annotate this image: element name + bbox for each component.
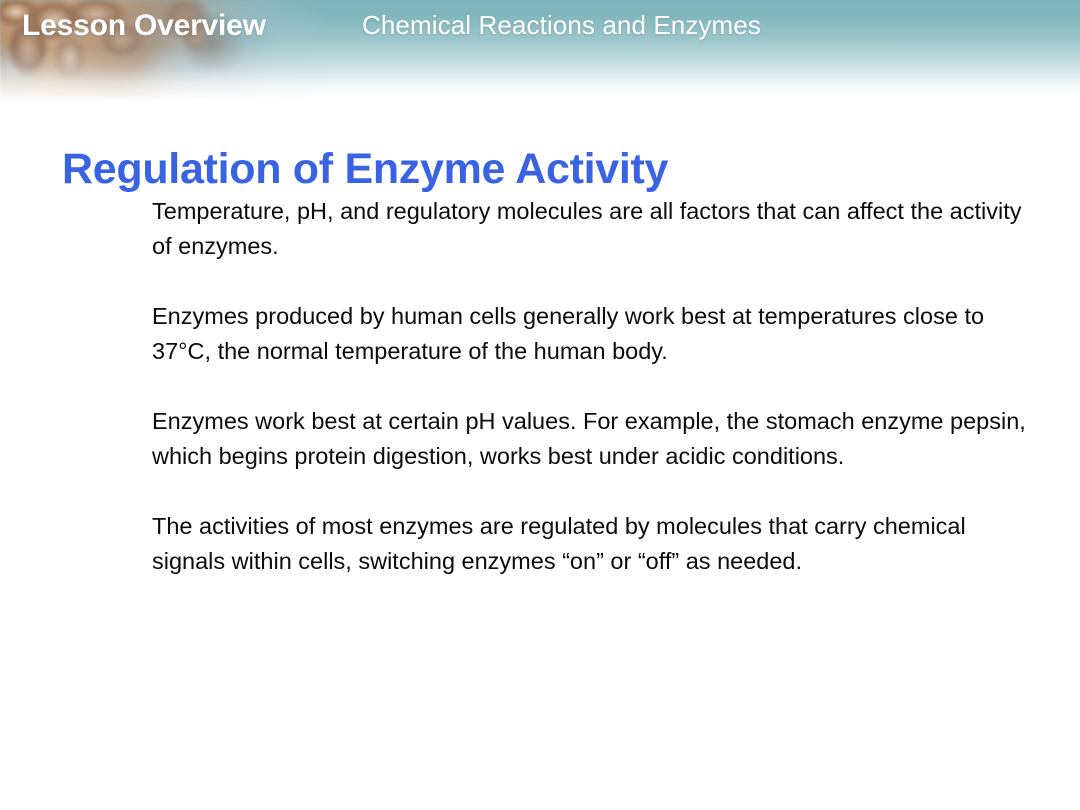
lesson-overview-label: Lesson Overview [22,9,266,43]
slide-body-content: Temperature, pH, and regulatory molecule… [152,194,1028,579]
body-paragraph: The activities of most enzymes are regul… [152,509,1028,579]
body-paragraph: Temperature, pH, and regulatory molecule… [152,194,1028,264]
page-title: Regulation of Enzyme Activity [62,145,668,194]
slide: Lesson Overview Chemical Reactions and E… [0,0,1080,810]
body-paragraph: Enzymes produced by human cells generall… [152,299,1028,369]
body-paragraph: Enzymes work best at certain pH values. … [152,404,1028,474]
lesson-chapter-subtitle: Chemical Reactions and Enzymes [362,10,761,41]
slide-header-banner: Lesson Overview Chemical Reactions and E… [0,0,1080,100]
